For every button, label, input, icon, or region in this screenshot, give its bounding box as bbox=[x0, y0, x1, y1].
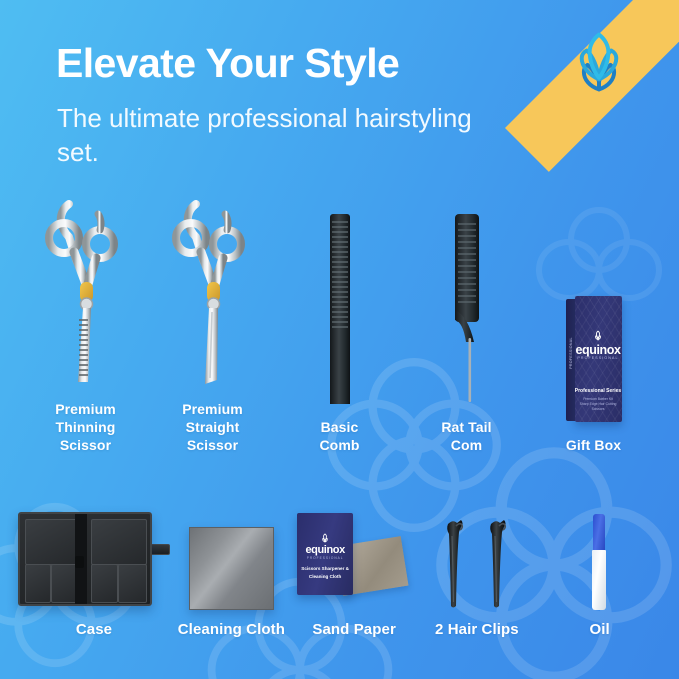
gift-box-icon: PROFESSIONAL equinox PROFESSIONAL Profes… bbox=[566, 296, 622, 424]
product-caption: Gift Box bbox=[566, 437, 621, 455]
sand-paper-icon: equinox PROFESSIONAL Scissors Sharpener … bbox=[295, 505, 413, 610]
case-art bbox=[18, 492, 170, 610]
sand-paper-brand-sub: PROFESSIONAL bbox=[297, 556, 353, 560]
page-subtitle: The ultimate professional hairstyling se… bbox=[57, 102, 477, 170]
product-sand-paper[interactable]: equinox PROFESSIONAL Scissors Sharpener … bbox=[293, 492, 416, 639]
case-strap bbox=[149, 544, 170, 555]
sand-paper-art: equinox PROFESSIONAL Scissors Sharpener … bbox=[293, 492, 416, 610]
product-thinning-scissor[interactable]: Premium Thinning Scissor bbox=[22, 188, 149, 455]
case-icon bbox=[18, 506, 170, 610]
thinning-scissor-icon bbox=[38, 192, 134, 388]
sand-paper-brand: equinox bbox=[297, 544, 353, 556]
product-caption: Cleaning Cloth bbox=[178, 620, 285, 639]
oil-pen-icon bbox=[591, 514, 608, 610]
product-row-bottom: Case Cleaning Cloth bbox=[0, 492, 679, 639]
gift-box-front: equinox PROFESSIONAL Professional Series… bbox=[575, 296, 622, 422]
oil-art bbox=[538, 492, 661, 610]
product-basic-comb[interactable]: Basic Comb bbox=[276, 206, 403, 455]
rat-tail-comb-icon bbox=[444, 210, 490, 406]
product-case[interactable]: Case bbox=[18, 492, 170, 639]
oil-pen-body bbox=[592, 550, 606, 610]
product-infographic: Elevate Your Style The ultimate professi… bbox=[0, 0, 679, 679]
case-body bbox=[18, 512, 152, 606]
hair-clip-icon bbox=[486, 514, 510, 610]
product-oil[interactable]: Oil bbox=[538, 492, 661, 639]
gift-box-brand-sub: PROFESSIONAL bbox=[575, 356, 622, 360]
gift-box-side-text: PROFESSIONAL bbox=[569, 330, 573, 376]
product-caption: Oil bbox=[589, 620, 609, 639]
sand-paper-pack: equinox PROFESSIONAL Scissors Sharpener … bbox=[297, 513, 353, 595]
case-pocket bbox=[25, 519, 77, 565]
product-caption: Case bbox=[76, 620, 112, 639]
cleaning-cloth-icon bbox=[189, 527, 274, 610]
product-cleaning-cloth[interactable]: Cleaning Cloth bbox=[170, 492, 293, 639]
case-pocket bbox=[25, 564, 51, 603]
gift-box-series-sub: Premium Barber Kit Sharp Edge Hair Cutti… bbox=[575, 397, 622, 412]
straight-scissor-art bbox=[149, 188, 276, 388]
product-caption: Premium Straight Scissor bbox=[182, 401, 243, 455]
oil-pen-cap bbox=[593, 514, 605, 552]
product-caption: Basic Comb bbox=[319, 419, 359, 455]
case-pocket bbox=[91, 564, 118, 603]
hair-clips-icon bbox=[443, 514, 510, 610]
straight-scissor-icon bbox=[165, 192, 261, 388]
hair-clip-icon bbox=[443, 514, 467, 610]
product-rat-tail-comb[interactable]: Rat Tail Com bbox=[403, 206, 530, 455]
gift-box-art: PROFESSIONAL equinox PROFESSIONAL Profes… bbox=[530, 224, 657, 424]
product-caption: Rat Tail Com bbox=[441, 419, 491, 455]
product-caption: 2 Hair Clips bbox=[435, 620, 519, 639]
product-caption: Premium Thinning Scissor bbox=[55, 401, 116, 455]
cleaning-cloth-art bbox=[170, 492, 293, 610]
lotus-flower-icon bbox=[318, 532, 333, 544]
gift-box-brand: equinox bbox=[575, 343, 622, 357]
lotus-flower-icon bbox=[590, 329, 606, 342]
basic-comb-icon bbox=[317, 210, 363, 406]
sand-paper-description: Scissors Sharpener & Cleaning Cloth bbox=[297, 565, 353, 580]
lotus-flower-icon bbox=[562, 26, 636, 98]
product-hair-clips[interactable]: 2 Hair Clips bbox=[416, 492, 539, 639]
product-row-top: Premium Thinning Scissor Premium Str bbox=[0, 188, 679, 455]
product-caption: Sand Paper bbox=[312, 620, 396, 639]
case-pocket bbox=[91, 519, 147, 565]
case-pocket bbox=[51, 564, 77, 603]
case-buckle bbox=[75, 556, 84, 568]
product-straight-scissor[interactable]: Premium Straight Scissor bbox=[149, 188, 276, 455]
page-title: Elevate Your Style bbox=[56, 42, 399, 85]
rat-tail-comb-art bbox=[403, 206, 530, 406]
product-gift-box[interactable]: PROFESSIONAL equinox PROFESSIONAL Profes… bbox=[530, 224, 657, 455]
gift-box-series: Professional Series bbox=[575, 388, 622, 394]
case-pocket bbox=[118, 564, 147, 603]
thinning-scissor-art bbox=[22, 188, 149, 388]
basic-comb-art bbox=[276, 206, 403, 406]
hair-clips-art bbox=[416, 492, 539, 610]
